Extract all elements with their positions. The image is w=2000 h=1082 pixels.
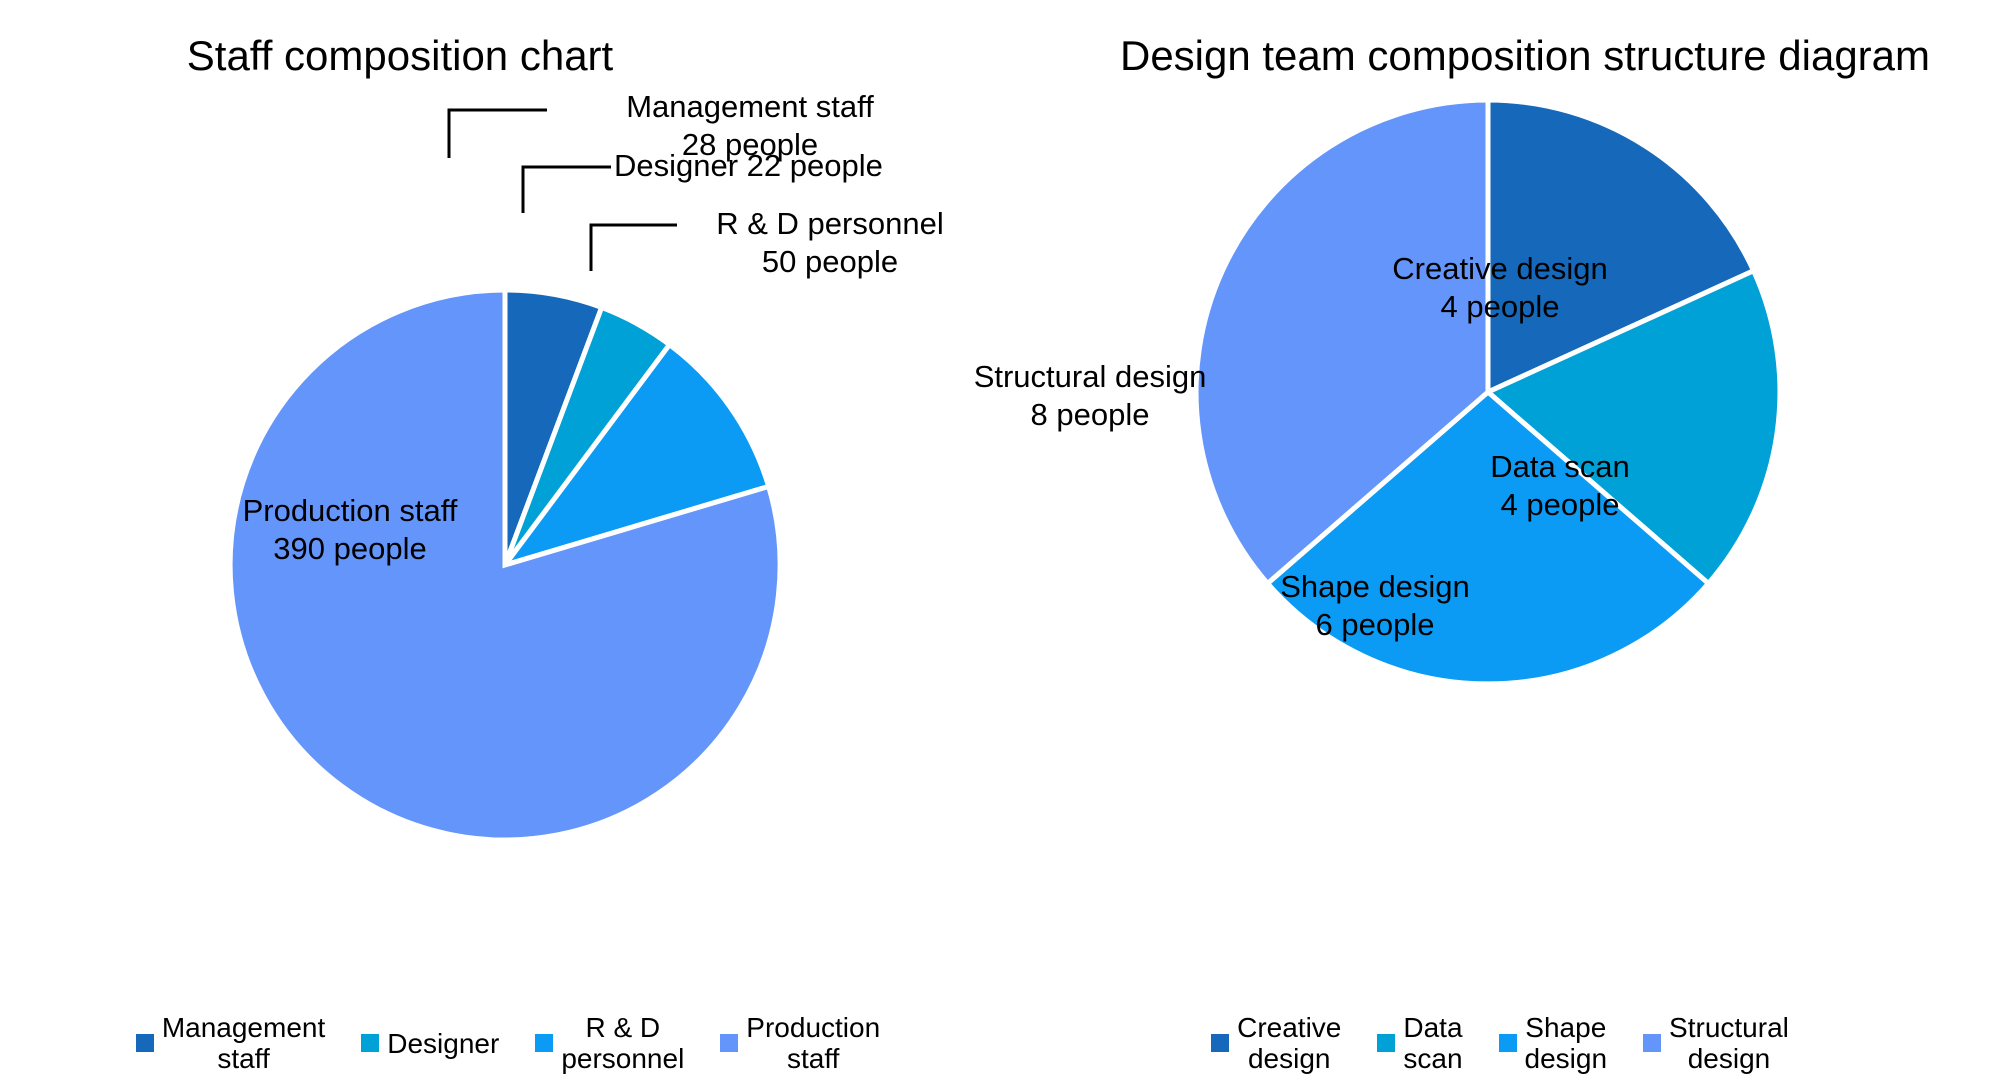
leader-line-rd-personnel	[591, 225, 677, 271]
callout-rd-personnel: R & D personnel 50 people	[680, 205, 980, 281]
legend-label-management-staff-line1: Management	[162, 1012, 325, 1043]
legend-label-designer: Designer	[387, 1028, 499, 1059]
legend-swatch-data-scan	[1377, 1034, 1395, 1052]
left-pie-chart	[230, 290, 790, 850]
callout-rd-personnel-line1: R & D personnel	[680, 205, 980, 243]
legend-label-designer-line1: Designer	[387, 1028, 499, 1059]
legend-label-data-scan: Data scan	[1403, 1012, 1462, 1074]
legend-label-shape-design-line1: Shape	[1525, 1012, 1606, 1043]
legend-label-structural-design: Structural design	[1669, 1012, 1789, 1074]
legend-label-shape-design-line2: design	[1525, 1043, 1608, 1074]
staff-composition-panel: Staff composition chart Management staff	[0, 0, 1000, 1082]
leader-line-designer	[523, 167, 611, 213]
legend-item-designer[interactable]: Designer	[361, 1028, 499, 1059]
callout-rd-personnel-line2: 50 people	[680, 243, 980, 281]
legend-label-rd-personnel-line2: personnel	[561, 1043, 684, 1074]
legend-item-shape-design[interactable]: Shape design	[1499, 1012, 1608, 1074]
legend-label-rd-personnel-line1: R & D	[585, 1012, 660, 1043]
legend-swatch-management-staff	[136, 1034, 154, 1052]
legend-label-shape-design: Shape design	[1525, 1012, 1608, 1074]
legend-label-rd-personnel: R & D personnel	[561, 1012, 684, 1074]
legend-label-management-staff: Management staff	[162, 1012, 325, 1074]
callout-designer: Designer 22 people	[614, 147, 944, 185]
legend-swatch-rd-personnel	[535, 1034, 553, 1052]
left-legend: Management staff Designer R & D personne…	[0, 1012, 1008, 1074]
legend-label-data-scan-line2: scan	[1403, 1043, 1462, 1074]
legend-item-data-scan[interactable]: Data scan	[1377, 1012, 1462, 1074]
legend-item-rd-personnel[interactable]: R & D personnel	[535, 1012, 684, 1074]
legend-item-production-staff[interactable]: Production staff	[720, 1012, 880, 1074]
legend-label-management-staff-line2: staff	[217, 1043, 269, 1074]
callout-designer-line1: Designer 22 people	[614, 147, 944, 185]
legend-label-structural-design-line2: design	[1688, 1043, 1771, 1074]
right-pie-svg	[1196, 100, 1780, 684]
legend-label-production-staff-line2: staff	[787, 1043, 839, 1074]
charts-page: Staff composition chart Management staff	[0, 0, 2000, 1082]
right-chart-title: Design team composition structure diagra…	[1025, 30, 2000, 82]
right-pie-chart	[1196, 100, 1780, 684]
callout-management-staff-line1: Management staff	[550, 88, 950, 126]
leader-line-management-staff	[449, 110, 547, 158]
legend-label-data-scan-line1: Data	[1403, 1012, 1462, 1043]
legend-item-creative-design[interactable]: Creative design	[1211, 1012, 1341, 1074]
legend-label-creative-design-line2: design	[1248, 1043, 1331, 1074]
legend-swatch-shape-design	[1499, 1034, 1517, 1052]
left-pie-svg	[230, 290, 790, 850]
legend-label-structural-design-line1: Structural	[1669, 1012, 1789, 1043]
legend-label-production-staff: Production staff	[746, 1012, 880, 1074]
legend-swatch-structural-design	[1643, 1034, 1661, 1052]
legend-swatch-production-staff	[720, 1034, 738, 1052]
legend-label-production-staff-line1: Production	[746, 1012, 880, 1043]
design-team-panel: Design team composition structure diagra…	[1000, 0, 2000, 1082]
legend-label-creative-design: Creative design	[1237, 1012, 1341, 1074]
legend-swatch-creative-design	[1211, 1034, 1229, 1052]
legend-item-management-staff[interactable]: Management staff	[136, 1012, 325, 1074]
right-legend: Creative design Data scan Shape design	[1000, 1012, 2000, 1074]
legend-swatch-designer	[361, 1034, 379, 1052]
legend-item-structural-design[interactable]: Structural design	[1643, 1012, 1789, 1074]
left-chart-title: Staff composition chart	[0, 30, 900, 82]
legend-label-creative-design-line1: Creative	[1237, 1012, 1341, 1043]
